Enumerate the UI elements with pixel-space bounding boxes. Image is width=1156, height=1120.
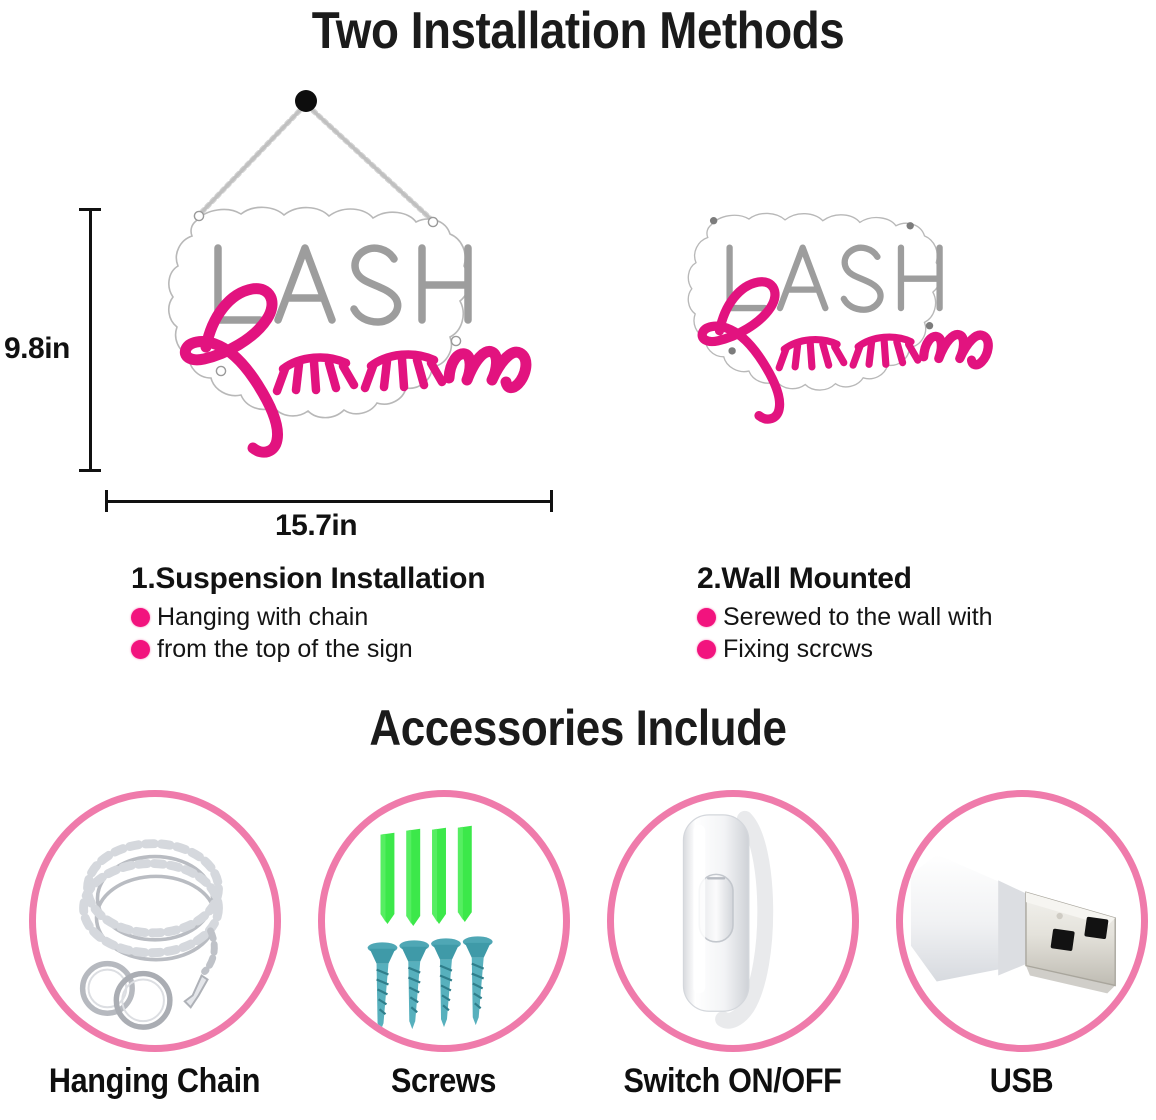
accessories-row: Hanging Chain bbox=[0, 790, 1156, 1120]
mount-hole-bottom-left bbox=[216, 366, 225, 375]
accessory-usb: USB bbox=[877, 790, 1156, 1120]
wall-plug-group bbox=[380, 826, 471, 926]
bullet-dot-icon bbox=[697, 640, 716, 659]
accessory-screws: Screws bbox=[299, 790, 588, 1120]
method-2-bullet-2-text: Fixing scrcws bbox=[723, 634, 873, 665]
bullet-dot-icon bbox=[131, 608, 150, 627]
mount-hole-bottom-left-2 bbox=[728, 347, 735, 354]
usb-icon bbox=[903, 797, 1141, 1045]
method-2-wall-mounted: 2.Wall Mounted Serewed to the wall with … bbox=[697, 562, 993, 665]
switch-icon bbox=[614, 797, 852, 1045]
accessory-switch: Switch ON/OFF bbox=[588, 790, 877, 1120]
hanging-chain-illustration bbox=[199, 90, 433, 221]
method-1-bullet-1: Hanging with chain bbox=[131, 602, 485, 633]
chain-icon bbox=[36, 797, 274, 1045]
mount-hole-top-right-2 bbox=[907, 222, 914, 229]
accessory-label-switch: Switch ON/OFF bbox=[602, 1062, 862, 1101]
method-2-bullet-2: Fixing scrcws bbox=[697, 634, 993, 665]
accessory-circle-border bbox=[896, 790, 1148, 1052]
mount-hole-bottom-right-2 bbox=[926, 322, 933, 329]
sign-wall-mounted-illustration bbox=[612, 190, 1032, 490]
method-1-bullet-1-text: Hanging with chain bbox=[157, 602, 368, 633]
bullet-dot-icon bbox=[697, 608, 716, 627]
height-dimension-label: 9.8in bbox=[4, 332, 70, 366]
mount-hole-top-right bbox=[428, 217, 437, 226]
method-2-bullet-1: Serewed to the wall with bbox=[697, 602, 993, 633]
screw-group bbox=[367, 936, 492, 1031]
mount-hole-top-left-2 bbox=[710, 217, 717, 224]
method-1-bullet-2: from the top of the sign bbox=[131, 634, 485, 665]
bullet-dot-icon bbox=[131, 640, 150, 659]
accessory-label-screws: Screws bbox=[313, 1062, 573, 1101]
method-2-title: 2.Wall Mounted bbox=[697, 562, 993, 596]
mount-hole-top-left bbox=[194, 211, 203, 220]
page-title-installation: Two Installation Methods bbox=[69, 2, 1086, 60]
method-2-bullet-1-text: Serewed to the wall with bbox=[723, 602, 993, 633]
infographic-page: Two Installation Methods 9.8in 15.7in bbox=[0, 0, 1156, 1120]
accessory-label-chain: Hanging Chain bbox=[24, 1062, 284, 1101]
wall-nail-icon bbox=[295, 90, 317, 112]
method-1-bullet-2-text: from the top of the sign bbox=[157, 634, 413, 665]
method-1-title: 1.Suspension Installation bbox=[131, 562, 485, 596]
screws-icon bbox=[325, 797, 563, 1045]
mount-hole-bottom-right bbox=[451, 336, 460, 345]
accessory-circle-border bbox=[318, 790, 570, 1052]
accessory-circle-border bbox=[607, 790, 859, 1052]
accessory-hanging-chain: Hanging Chain bbox=[10, 790, 299, 1120]
width-dimension-label: 15.7in bbox=[275, 509, 357, 543]
accessory-label-usb: USB bbox=[891, 1062, 1151, 1101]
method-1-suspension: 1.Suspension Installation Hanging with c… bbox=[131, 562, 485, 665]
page-title-accessories: Accessories Include bbox=[69, 700, 1086, 756]
sign-suspension-illustration bbox=[78, 88, 578, 488]
accessory-circle-border bbox=[29, 790, 281, 1052]
